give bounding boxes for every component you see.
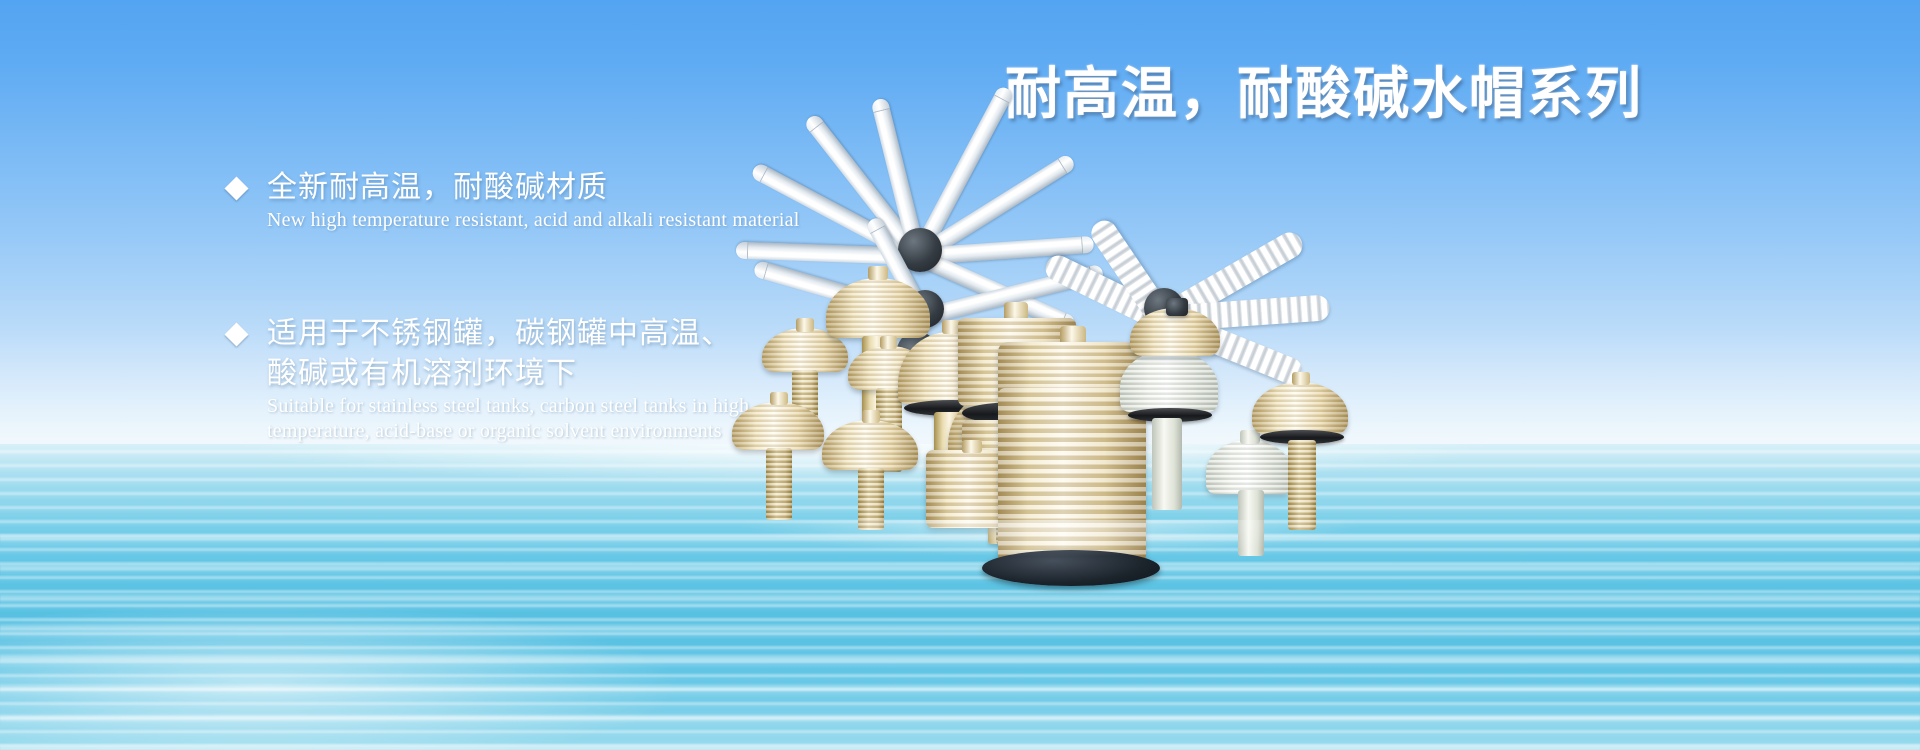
diamond-bullet-icon — [224, 322, 248, 346]
feature-2-en-line-1: Suitable for stainless steel tanks, carb… — [267, 394, 749, 419]
water-cap-product-cluster — [700, 120, 1500, 540]
feature-2-cn-line-2: 酸碱或有机溶剂环境下 — [267, 354, 749, 394]
product-banner: 耐高温，耐酸碱水帽系列 全新耐高温，耐酸碱材质 New high tempera… — [0, 0, 1920, 750]
water-specular-shine — [0, 530, 1100, 750]
feature-bullet-2-text: 适用于不锈钢罐，碳钢罐中高温、 酸碱或有机溶剂环境下 Suitable for … — [267, 314, 749, 444]
feature-2-en-line-2: temperature, acid-base or organic solven… — [267, 419, 749, 444]
feature-2-cn-line-1: 适用于不锈钢罐，碳钢罐中高温、 — [267, 314, 749, 354]
banner-title: 耐高温，耐酸碱水帽系列 — [1005, 62, 1643, 126]
feature-bullet-2: 适用于不锈钢罐，碳钢罐中高温、 酸碱或有机溶剂环境下 Suitable for … — [228, 314, 749, 444]
diamond-bullet-icon — [224, 176, 248, 200]
product-water-reflection — [740, 520, 1360, 556]
